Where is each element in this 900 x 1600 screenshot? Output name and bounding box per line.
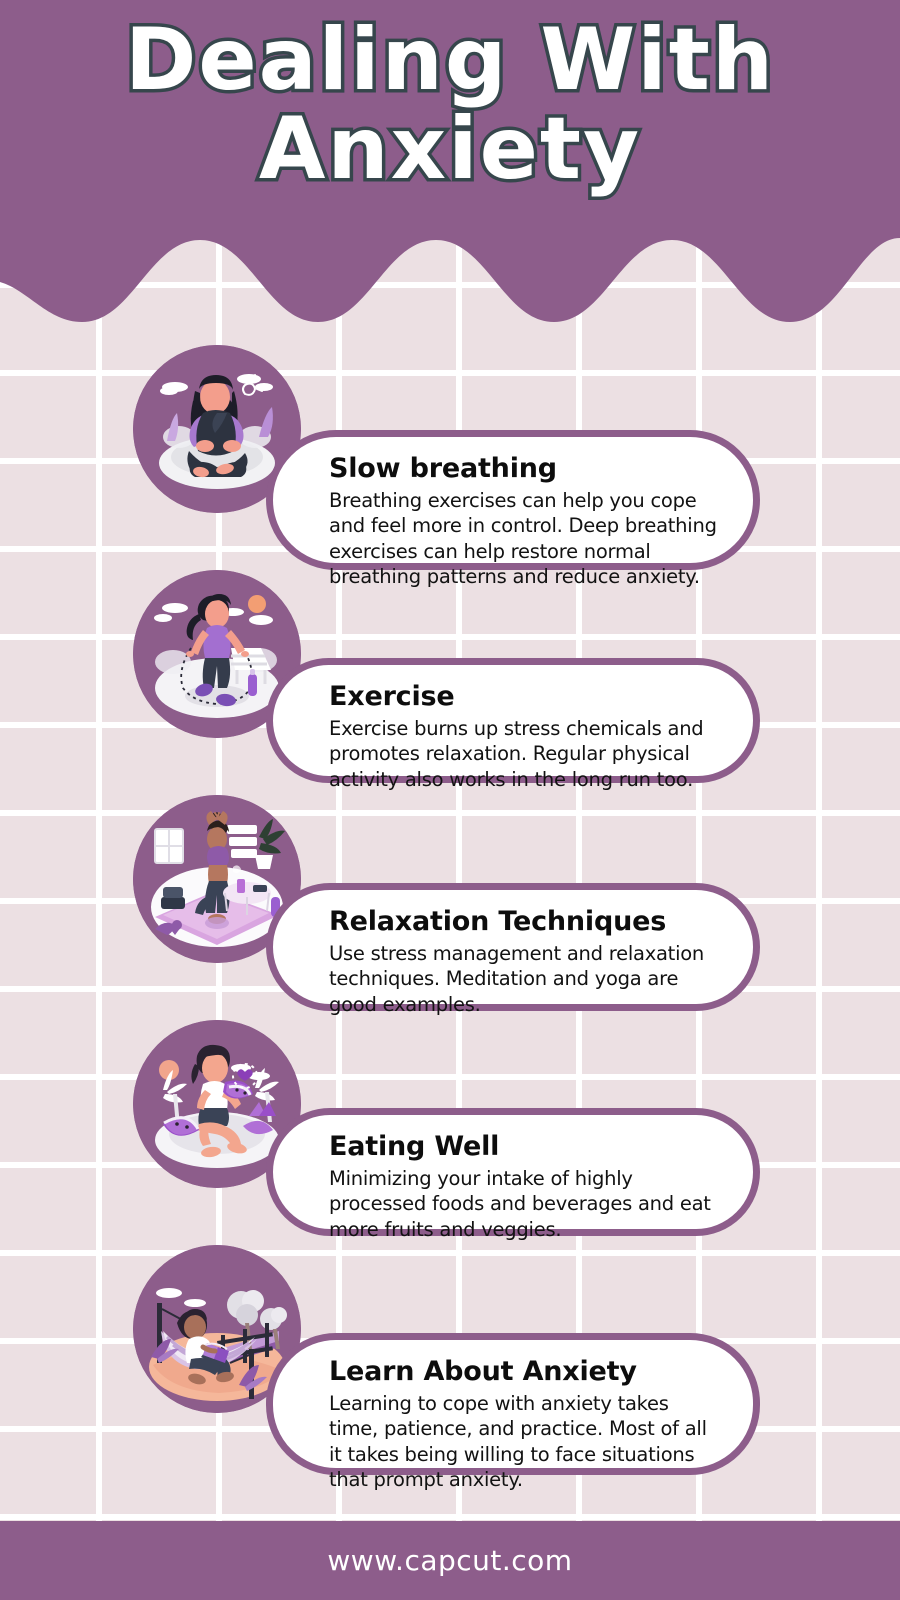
tip-row-5: Learn About Anxiety Learning to cope wit… — [0, 1245, 900, 1505]
tip-card-3[interactable]: Relaxation Techniques Use stress managem… — [266, 883, 760, 1011]
tip-row-4: Eating Well Minimizing your intake of hi… — [0, 1020, 900, 1255]
tip-row-3: Relaxation Techniques Use stress managem… — [0, 795, 900, 1030]
footer-bar: www.capcut.com — [0, 1521, 900, 1600]
tip-body-2: Exercise burns up stress chemicals and p… — [329, 716, 719, 792]
tip-title-2: Exercise — [329, 681, 719, 713]
tip-card-2[interactable]: Exercise Exercise burns up stress chemic… — [266, 658, 760, 783]
tip-body-3: Use stress management and relaxation tec… — [329, 941, 719, 1017]
tip-title-3: Relaxation Techniques — [329, 906, 719, 938]
tip-row-2: Exercise Exercise burns up stress chemic… — [0, 570, 900, 805]
tip-title-1: Slow breathing — [329, 453, 719, 485]
header-banner — [0, 0, 900, 340]
tip-body-4: Minimizing your intake of highly process… — [329, 1166, 719, 1242]
tip-card-5[interactable]: Learn About Anxiety Learning to cope wit… — [266, 1333, 760, 1475]
tip-body-5: Learning to cope with anxiety takes time… — [329, 1391, 719, 1492]
infographic-poster: Dealing With Anxiety — [0, 0, 900, 1600]
footer-website-link[interactable]: www.capcut.com — [327, 1544, 572, 1577]
tip-title-4: Eating Well — [329, 1131, 719, 1163]
tip-title-5: Learn About Anxiety — [329, 1356, 719, 1388]
tip-card-4[interactable]: Eating Well Minimizing your intake of hi… — [266, 1108, 760, 1236]
tip-card-1[interactable]: Slow breathing Breathing exercises can h… — [266, 430, 760, 570]
tip-row-1: Slow breathing Breathing exercises can h… — [0, 345, 900, 580]
